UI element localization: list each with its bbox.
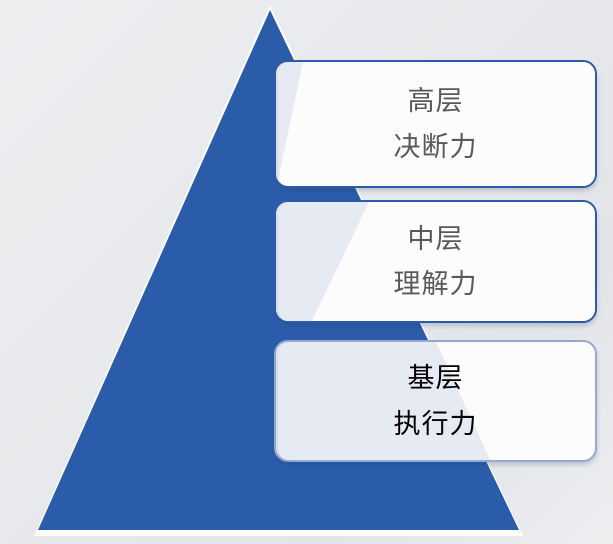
bottom-level-text-group: 基层 执行力 <box>276 364 595 438</box>
slide-canvas: 高层 决断力 中层 理解力 基层 执行力 <box>0 0 613 544</box>
bottom-level-role-label: 基层 <box>408 364 464 392</box>
middle-level-capability-label: 理解力 <box>394 270 478 298</box>
bottom-level-capability-label: 执行力 <box>394 410 478 438</box>
top-level-card[interactable]: 高层 决断力 <box>274 60 597 188</box>
middle-level-role-label: 中层 <box>408 225 464 253</box>
middle-level-card[interactable]: 中层 理解力 <box>274 200 597 323</box>
top-level-capability-label: 决断力 <box>394 133 478 161</box>
top-level-text-group: 高层 决断力 <box>276 87 595 161</box>
top-level-role-label: 高层 <box>408 87 464 115</box>
middle-level-text-group: 中层 理解力 <box>276 225 595 299</box>
bottom-level-card[interactable]: 基层 执行力 <box>274 340 597 462</box>
